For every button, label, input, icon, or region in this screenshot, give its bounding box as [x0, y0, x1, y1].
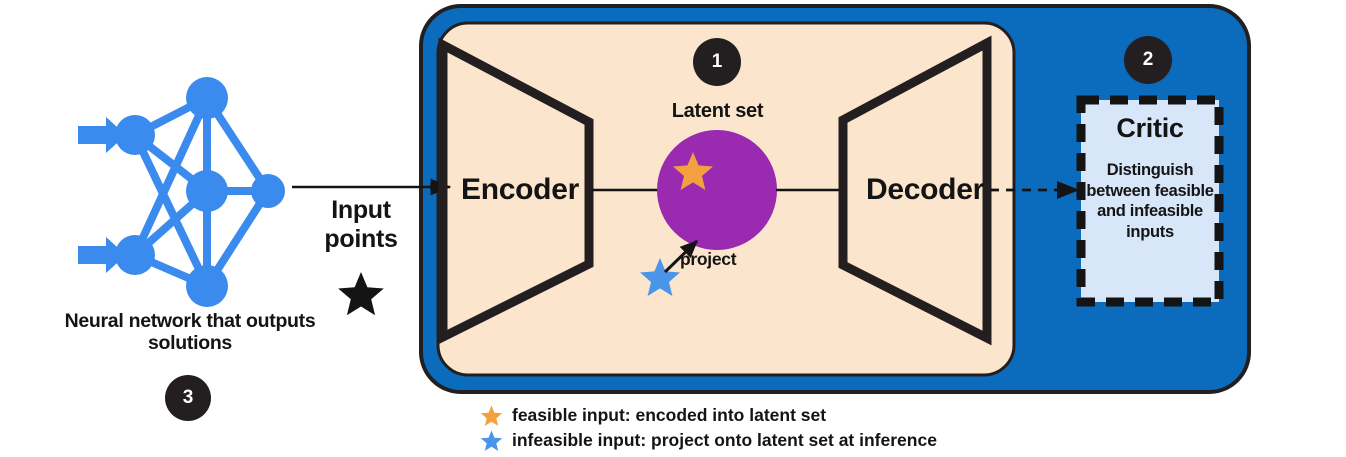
legend-item-infeasible: infeasible input: project onto latent se…: [480, 429, 937, 452]
blue-star-icon: [480, 429, 503, 452]
neural-network-nodes: [115, 77, 285, 307]
encoder-label: Encoder: [440, 173, 600, 208]
network-caption: Neural network that outputs solutions: [50, 310, 330, 355]
critic-title: Critic: [1082, 113, 1218, 144]
latent-set-label: Latent set: [645, 100, 790, 123]
input-points-label: Input points: [300, 196, 422, 254]
badge-1: 1: [693, 38, 741, 86]
input-arrow-top-icon: [78, 117, 126, 153]
project-label: project: [680, 249, 760, 269]
input-points-star-icon: [338, 272, 384, 315]
badge-2: 2: [1124, 36, 1172, 84]
nn-node-hidden-mid: [186, 170, 228, 212]
legend-feasible-text: feasible input: encoded into latent set: [512, 405, 826, 426]
nn-node-output: [251, 174, 285, 208]
diagram-canvas: Neural network that outputs solutions 3 …: [0, 0, 1346, 457]
decoder-label: Decoder: [845, 173, 1005, 208]
legend-infeasible-text: infeasible input: project onto latent se…: [512, 430, 937, 451]
network-input-arrows: [78, 117, 126, 273]
nn-node-hidden-top: [186, 77, 228, 119]
input-arrow-bottom-icon: [78, 237, 126, 273]
critic-description: Distinguish between feasible and infeasi…: [1082, 160, 1218, 243]
latent-set-circle: [657, 130, 777, 250]
nn-node-hidden-bottom: [186, 265, 228, 307]
orange-star-icon: [480, 404, 503, 427]
badge-3: 3: [165, 375, 211, 421]
legend-item-feasible: feasible input: encoded into latent set: [480, 404, 826, 427]
